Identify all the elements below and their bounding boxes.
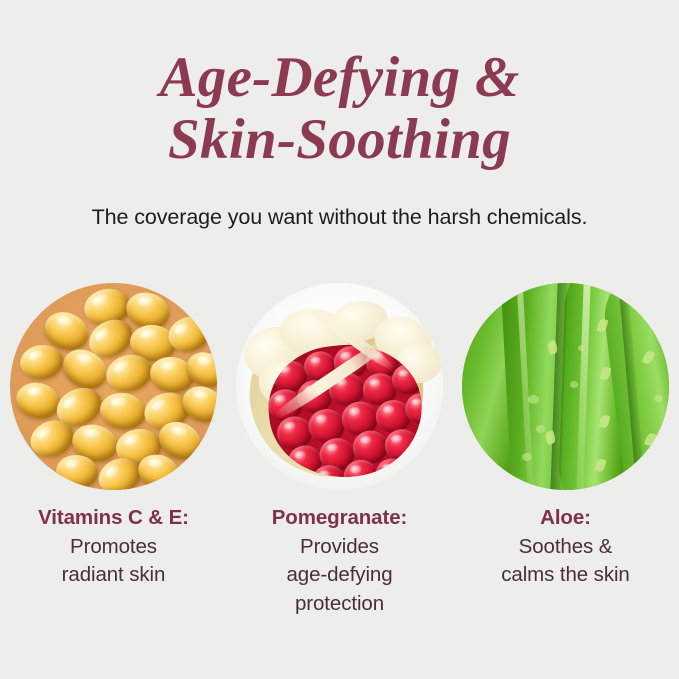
ingredient-body-line: age-defying: [272, 561, 408, 590]
ingredient-body-line: protection: [272, 590, 408, 619]
page-title: Age-Defying & Skin-Soothing: [0, 47, 679, 171]
ingredient-title: Aloe:: [501, 504, 629, 533]
ingredient-body-line: radiant skin: [38, 561, 189, 590]
ingredient-title: Vitamins C & E:: [38, 504, 189, 533]
vitamin-capsules-photo: [10, 283, 217, 490]
ingredient-body-line: Promotes: [38, 533, 189, 562]
headline-line-1: Age-Defying &: [0, 47, 679, 109]
ingredient-caption-pomegranate: Pomegranate: Provides age-defying protec…: [272, 504, 408, 618]
ingredient-title: Pomegranate:: [272, 504, 408, 533]
ingredient-card-vitamins: Vitamins C & E: Promotes radiant skin: [8, 283, 219, 618]
ingredient-body-line: Soothes &: [501, 533, 629, 562]
capsules-illustration: [10, 283, 217, 490]
ingredient-body-line: Provides: [272, 533, 408, 562]
headline-line-2: Skin-Soothing: [0, 109, 679, 171]
pomegranate-photo: [236, 283, 443, 490]
ingredient-caption-vitamins: Vitamins C & E: Promotes radiant skin: [38, 504, 189, 590]
ingredient-body-line: calms the skin: [501, 561, 629, 590]
ingredient-card-pomegranate: Pomegranate: Provides age-defying protec…: [234, 283, 445, 618]
page-subtitle: The coverage you want without the harsh …: [0, 205, 679, 230]
ingredient-caption-aloe: Aloe: Soothes & calms the skin: [501, 504, 629, 590]
aloe-photo: [462, 283, 669, 490]
ingredient-card-row: Vitamins C & E: Promotes radiant skin: [0, 283, 679, 618]
aloe-illustration: [462, 283, 669, 490]
pomegranate-illustration: [236, 283, 443, 490]
infographic-page: Age-Defying & Skin-Soothing The coverage…: [0, 0, 679, 679]
ingredient-card-aloe: Aloe: Soothes & calms the skin: [460, 283, 671, 618]
